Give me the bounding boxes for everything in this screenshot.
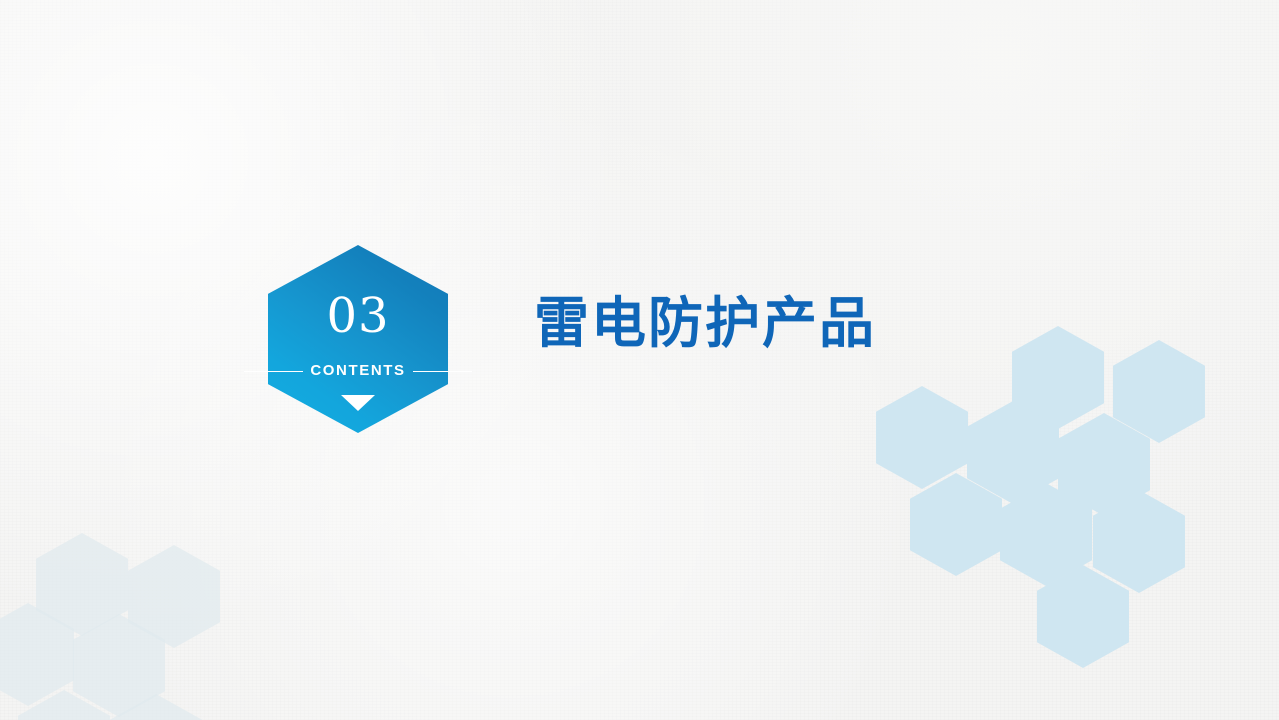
triangle-down-icon: [341, 395, 375, 411]
honeycomb-hexagon: [1058, 413, 1150, 516]
honeycomb-hexagon: [1093, 490, 1185, 593]
honeycomb-hexagon: [36, 533, 128, 636]
honeycomb-hexagon: [73, 614, 165, 717]
contents-badge[interactable]: 03 CONTENTS: [268, 245, 448, 433]
honeycomb-hexagon: [910, 473, 1002, 576]
contents-label: CONTENTS: [303, 362, 412, 380]
honeycomb-cluster-right: [0, 0, 1279, 720]
honeycomb-hexagon: [110, 694, 202, 720]
honeycomb-hexagon: [1012, 326, 1104, 429]
section-number: 03: [268, 289, 448, 343]
section-title: 雷电防护产品: [534, 292, 876, 354]
contents-rule-right: [413, 371, 472, 372]
honeycomb-hexagon: [18, 690, 110, 720]
honeycomb-hexagon: [1037, 565, 1129, 668]
honeycomb-cluster-left: [0, 0, 1279, 720]
honeycomb-hexagon: [1113, 340, 1205, 443]
slide-canvas: 03 CONTENTS 雷电防护产品: [0, 0, 1279, 720]
honeycomb-hexagon: [128, 545, 220, 648]
honeycomb-hexagon: [876, 386, 968, 489]
contents-rule-left: [244, 371, 303, 372]
background-texture: [0, 0, 1279, 720]
honeycomb-hexagon: [967, 401, 1059, 504]
contents-label-row: CONTENTS: [244, 362, 472, 380]
honeycomb-hexagon: [0, 603, 74, 706]
honeycomb-hexagon: [1000, 483, 1092, 586]
